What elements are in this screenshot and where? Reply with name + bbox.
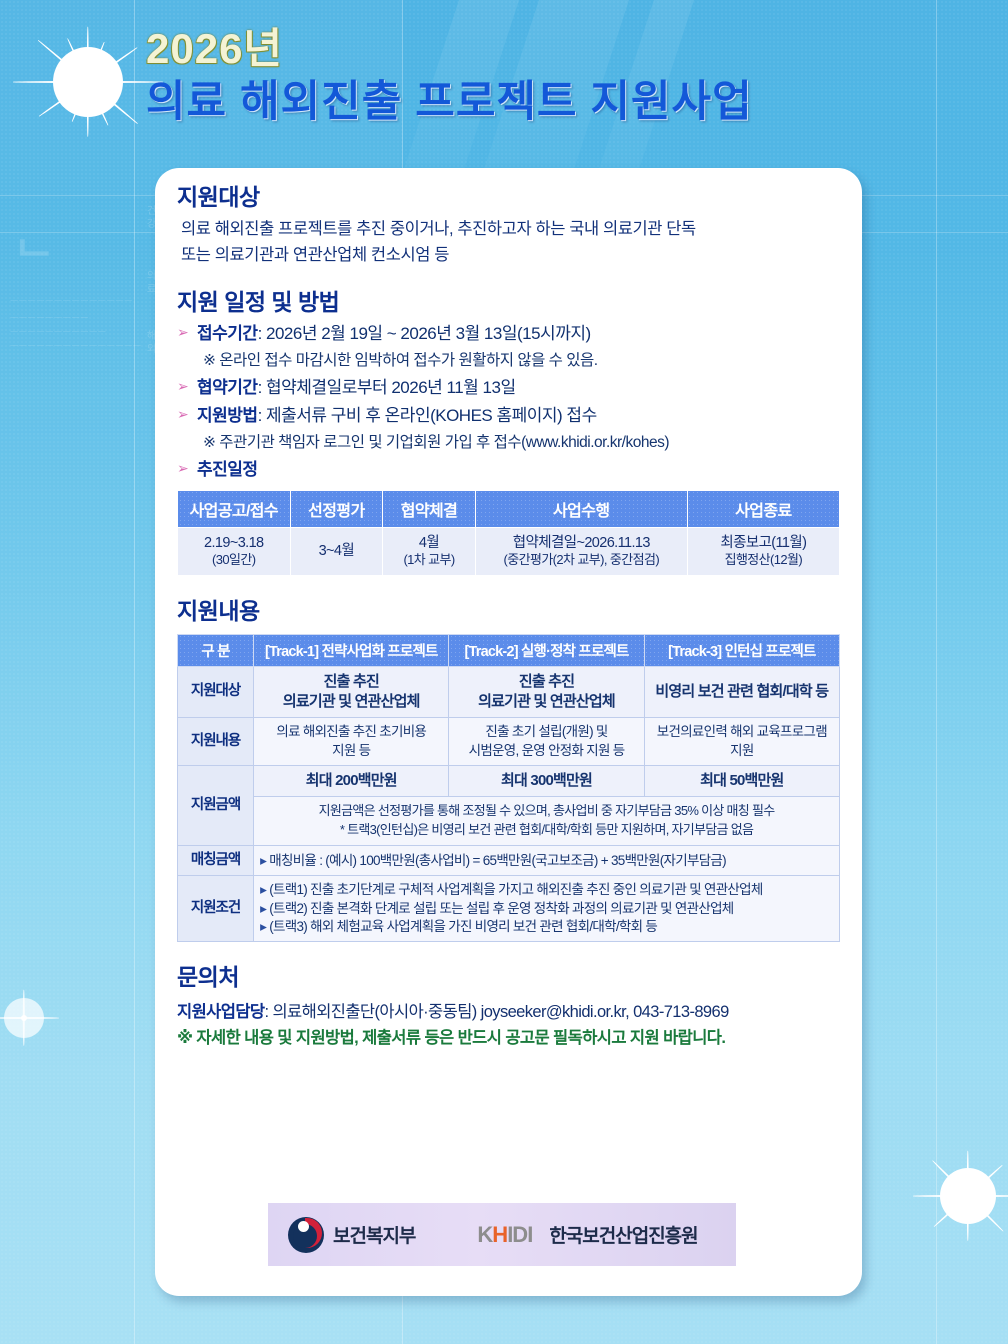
row-header: 지원금액 [178, 765, 254, 845]
column-header: [Track-2] 실행·정착 프로젝트 [449, 634, 644, 666]
contact-detail-line: 지원사업담당: 의료해외진출단(아시아·중동팀) joyseeker@khidi… [177, 998, 840, 1022]
table-cell: ▸ 매칭비율 : (예시) 100백만원(총사업비) = 65백만원(국고보조금… [254, 845, 840, 876]
table-row: 지원조건 ▸ (트랙1) 진출 초기단계로 구체적 사업계획을 가지고 해외진출… [178, 876, 840, 942]
target-line-1: 의료 해외진출 프로젝트를 추진 중이거나, 추진하고자 하는 국내 의료기관 … [181, 218, 840, 242]
khidi-logo: KHIDI 한국보건산업진흥원 [477, 1221, 697, 1248]
table-row: 지원대상 진출 추진 의료기관 및 연관산업체 진출 추진 의료기관 및 연관산… [178, 666, 840, 718]
schedule-note-1-wrap: ※ 온라인 접수 마감시한 임박하여 접수가 원활하지 않을 수 있음. [177, 351, 840, 372]
table-cell: 최종보고(11월) 집행정산(12월) [687, 527, 839, 576]
column-header: 사업공고/접수 [178, 490, 291, 527]
condition-item: ▸ (트랙3) 해외 체험교육 사업계획을 가진 비영리 보건 관련 협회/대학… [260, 918, 833, 936]
table-cell: 의료 해외진출 추진 초기비용 지원 등 [254, 718, 449, 765]
taegeuk-icon [288, 1217, 324, 1253]
column-header: 선정평가 [290, 490, 383, 527]
table-cell: 비영리 보건 관련 협회/대학 등 [644, 666, 839, 718]
table-cell: 최대 50백만원 [644, 765, 839, 796]
list-item: ➢ 협약기간: 협약체결일로부터 2026년 11월 13일 [177, 377, 840, 400]
schedule-note-2: ※ 주관기관 책임자 로그인 및 기업회원 가입 후 접수(www.khidi.… [203, 433, 840, 454]
row-header: 지원조건 [178, 876, 254, 942]
list-item: ➢ 접수기간: 2026년 2월 19일 ~ 2026년 3월 13일(15시까… [177, 323, 840, 346]
arrow-bullet-icon: ➢ [177, 323, 188, 343]
table-cell: 협약체결일~2026.11.13 (중간평가(2차 교부), 중간점검) [475, 527, 687, 576]
bullet-text: : 협약체결일로부터 2026년 11월 13일 [258, 378, 516, 397]
bullet-text: : 제출서류 구비 후 온라인(KOHES 홈페이지) 접수 [258, 406, 597, 425]
arrow-bullet-icon: ➢ [177, 405, 188, 425]
contact-warning: ※ 자세한 내용 및 지원방법, 제출서류 등은 반드시 공고문 필독하시고 지… [177, 1024, 840, 1048]
khidi-idi: IDI [507, 1222, 532, 1247]
section-heading-contact: 문의처 [177, 964, 840, 992]
schedule-bullet-list: ➢ 접수기간: 2026년 2월 19일 ~ 2026년 3월 13일(15시까… [177, 323, 840, 482]
content-card: 지원대상 의료 해외진출 프로젝트를 추진 중이거나, 추진하고자 하는 국내 … [155, 168, 862, 1296]
row-header: 지원대상 [178, 666, 254, 718]
khidi-wordmark: KHIDI [477, 1222, 532, 1248]
condition-text: (트랙2) 진출 본격화 단계로 설립 또는 설립 후 운영 정착화 과정의 의… [269, 901, 733, 916]
column-header: [Track-3] 인턴십 프로젝트 [644, 634, 839, 666]
bullet-label: 접수기간 [197, 324, 258, 343]
schedule-note-1: ※ 온라인 접수 마감시한 임박하여 접수가 원활하지 않을 수 있음. [203, 351, 840, 372]
row-header: 매칭금액 [178, 845, 254, 876]
taegeuk-white-dot [298, 1221, 309, 1232]
table-cell: 2.19~3.18 (30일간) [178, 527, 291, 576]
table-cell: 진출 추진 의료기관 및 연관산업체 [449, 666, 644, 718]
poster-title-block: 2026년 의료 해외진출 프로젝트 지원사업 [146, 28, 906, 127]
cell-sub: 집행정산(12월) [690, 552, 837, 569]
table-cell: 보건의료인력 해외 교육프로그램 지원 [644, 718, 839, 765]
condition-item: ▸ (트랙2) 진출 본격화 단계로 설립 또는 설립 후 운영 정착화 과정의… [260, 900, 833, 918]
condition-text: (트랙3) 해외 체험교육 사업계획을 가진 비영리 보건 관련 협회/대학/학… [269, 919, 657, 934]
contact-detail: : 의료해외진출단(아시아·중동팀) joyseeker@khidi.or.kr… [264, 1003, 728, 1021]
table-header-row: 구 분 [Track-1] 전략사업화 프로젝트 [Track-2] 실행·정착… [178, 634, 840, 666]
table-cell: 진출 초기 설립(개원) 및 시범운영, 운영 안정화 지원 등 [449, 718, 644, 765]
table-row: 2.19~3.18 (30일간) 3~4월 4월 (1차 교부) 협약체결일~2… [178, 527, 840, 576]
table-cell: 진출 추진 의료기관 및 연관산업체 [254, 666, 449, 718]
table-cell: 최대 200백만원 [254, 765, 449, 796]
page-title: 의료 해외진출 프로젝트 지원사업 [146, 78, 906, 127]
column-header: 협약체결 [383, 490, 476, 527]
ministry-name: 보건복지부 [333, 1221, 415, 1248]
amount-note-1: 지원금액은 선정평가를 통해 조정될 수 있으며, 총사업비 중 자기부담금 3… [260, 802, 833, 821]
section-heading-schedule: 지원 일정 및 방법 [177, 289, 840, 317]
table-header-row: 사업공고/접수 선정평가 협약체결 사업수행 사업종료 [178, 490, 840, 527]
list-item: ➢ 추진일정 [177, 459, 840, 482]
column-header: [Track-1] 전략사업화 프로젝트 [254, 634, 449, 666]
table-row: 지원내용 의료 해외진출 추진 초기비용 지원 등 진출 초기 설립(개원) 및… [178, 718, 840, 765]
cell-main: 3~4월 [319, 543, 355, 559]
khidi-k: K [477, 1222, 492, 1247]
condition-item: ▸ (트랙1) 진출 초기단계로 구체적 사업계획을 가지고 해외진출 추진 중… [260, 881, 833, 899]
table-row: 지원금액 최대 200백만원 최대 300백만원 최대 50백만원 [178, 765, 840, 796]
bullet-label: 추진일정 [197, 460, 258, 479]
schedule-table: 사업공고/접수 선정평가 협약체결 사업수행 사업종료 2.19~3.18 (3… [177, 490, 840, 577]
bullet-label: 지원방법 [197, 406, 258, 425]
footer-logo-bar: 보건복지부 KHIDI 한국보건산업진흥원 [268, 1203, 736, 1266]
cell-main: 2.19~3.18 [204, 535, 264, 551]
section-heading-target: 지원대상 [177, 184, 840, 212]
table-cell: 4월 (1차 교부) [383, 527, 476, 576]
column-header: 구 분 [178, 634, 254, 666]
section-heading-content: 지원내용 [177, 598, 840, 626]
table-cell: 지원금액은 선정평가를 통해 조정될 수 있으며, 총사업비 중 자기부담금 3… [254, 797, 840, 846]
khidi-korean-name: 한국보건산업진흥원 [549, 1221, 697, 1248]
target-line-2: 또는 의료기관과 연관산업체 컨소시엄 등 [181, 244, 840, 268]
schedule-note-2-wrap: ※ 주관기관 책임자 로그인 및 기업회원 가입 후 접수(www.khidi.… [177, 433, 840, 454]
dot-bullet-icon: ▸ [260, 882, 269, 897]
condition-text: (트랙1) 진출 초기단계로 구체적 사업계획을 가지고 해외진출 추진 중인 … [269, 882, 762, 897]
dot-bullet-icon: ▸ [260, 919, 269, 934]
bullet-text: : 2026년 2월 19일 ~ 2026년 3월 13일(15시까지) [258, 324, 591, 343]
arrow-bullet-icon: ➢ [177, 459, 188, 479]
cell-sub: (중간평가(2차 교부), 중간점검) [478, 552, 685, 569]
table-cell: 최대 300백만원 [449, 765, 644, 796]
contact-label: 지원사업담당 [177, 1003, 264, 1021]
cell-main: 4월 [419, 535, 439, 551]
title-year: 2026년 [146, 28, 906, 70]
table-cell: 3~4월 [290, 527, 383, 576]
column-header: 사업수행 [475, 490, 687, 527]
row-header: 지원내용 [178, 718, 254, 765]
matching-text: 매칭비율 : (예시) 100백만원(총사업비) = 65백만원(국고보조금) … [269, 853, 726, 868]
cell-sub: (30일간) [180, 552, 288, 569]
cell-sub: (1차 교부) [385, 552, 473, 569]
table-cell: ▸ (트랙1) 진출 초기단계로 구체적 사업계획을 가지고 해외진출 추진 중… [254, 876, 840, 942]
khidi-h: H [492, 1222, 507, 1247]
table-row: 매칭금액 ▸ 매칭비율 : (예시) 100백만원(총사업비) = 65백만원(… [178, 845, 840, 876]
dot-bullet-icon: ▸ [260, 853, 269, 868]
list-item: ➢ 지원방법: 제출서류 구비 후 온라인(KOHES 홈페이지) 접수 [177, 405, 840, 428]
dot-bullet-icon: ▸ [260, 901, 269, 916]
cell-main: 협약체결일~2026.11.13 [513, 535, 650, 551]
ministry-logo: 보건복지부 [288, 1217, 415, 1253]
table-row: 지원금액은 선정평가를 통해 조정될 수 있으며, 총사업비 중 자기부담금 3… [178, 797, 840, 846]
content-table: 구 분 [Track-1] 전략사업화 프로젝트 [Track-2] 실행·정착… [177, 634, 840, 942]
cell-main: 최종보고(11월) [720, 535, 806, 551]
amount-note-2: * 트랙3(인턴십)은 비영리 보건 관련 협회/대학/학회 등만 지원하며, … [260, 821, 833, 840]
arrow-bullet-icon: ➢ [177, 377, 188, 397]
column-header: 사업종료 [687, 490, 839, 527]
bullet-label: 협약기간 [197, 378, 258, 397]
